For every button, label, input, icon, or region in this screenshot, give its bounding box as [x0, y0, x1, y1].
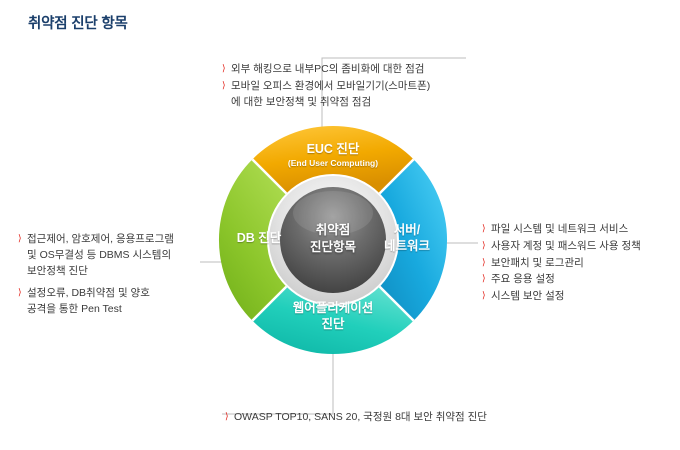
callout-text: 사용자 계정 및 패스워드 사용 정책: [491, 239, 672, 255]
callout-item: ⟩ 설정오류, DB취약점 및 양호 공격을 통한 Pen Test: [18, 286, 196, 318]
callout-item: ⟩ 주요 응용 설정: [482, 272, 672, 288]
donut-label-web-line2: 진단: [266, 317, 400, 333]
page-title: 취약점 진단 항목: [28, 12, 128, 33]
bullet-icon: ⟩: [482, 272, 486, 286]
callout-text: 설정오류, DB취약점 및 양호: [27, 286, 196, 302]
bullet-icon: ⟩: [18, 232, 22, 246]
callout-item: ⟩ 시스템 보안 설정: [482, 289, 672, 305]
donut-label-euc-sub: (End User Computing): [273, 158, 393, 169]
callout-item: ⟩ 모바일 오피스 환경에서 모바일기기(스마트폰) 에 대한 보안정책 및 취…: [222, 79, 472, 111]
donut-label-web-line1: 웹어플리케이션: [266, 301, 400, 317]
bullet-icon: ⟩: [222, 79, 226, 93]
callout-server-network: ⟩ 파일 시스템 및 네트워크 서비스 ⟩ 사용자 계정 및 패스워드 사용 정…: [482, 222, 672, 306]
callout-text: 보안정책 진단: [27, 264, 196, 280]
callout-item: ⟩ 외부 해킹으로 내부PC의 좀비화에 대한 점검: [222, 62, 472, 78]
callout-text: 외부 해킹으로 내부PC의 좀비화에 대한 점검: [231, 62, 472, 78]
callout-text: 모바일 오피스 환경에서 모바일기기(스마트폰): [231, 79, 472, 95]
callout-item: ⟩ 사용자 계정 및 패스워드 사용 정책: [482, 239, 672, 255]
donut-label-euc-main: EUC 진단: [273, 142, 393, 158]
bullet-icon: ⟩: [225, 410, 229, 424]
bullet-icon: ⟩: [482, 289, 486, 303]
donut-center-line2: 진단항목: [280, 239, 386, 256]
bullet-icon: ⟩: [482, 256, 486, 270]
vulnerability-donut-diagram: EUC 진단 (End User Computing) 서버/ 네트워크 웹어플…: [218, 125, 448, 355]
callout-text: 접근제어, 암호제어, 응용프로그램: [27, 232, 196, 248]
callout-db: ⟩ 접근제어, 암호제어, 응용프로그램 및 OS무결성 등 DBMS 시스템의…: [18, 232, 196, 319]
callout-text: 보안패치 및 로그관리: [491, 256, 672, 272]
callout-text: 파일 시스템 및 네트워크 서비스: [491, 222, 672, 238]
callout-item: ⟩ 파일 시스템 및 네트워크 서비스: [482, 222, 672, 238]
callout-text: 시스템 보안 설정: [491, 289, 672, 305]
callout-text: OWASP TOP10, SANS 20, 국정원 8대 보안 취약점 진단: [234, 410, 555, 426]
callout-euc: ⟩ 외부 해킹으로 내부PC의 좀비화에 대한 점검 ⟩ 모바일 오피스 환경에…: [222, 62, 472, 111]
donut-center-line1: 취약점: [280, 222, 386, 239]
callout-item: ⟩ OWASP TOP10, SANS 20, 국정원 8대 보안 취약점 진단: [225, 410, 555, 426]
bullet-icon: ⟩: [482, 239, 486, 253]
donut-center-label: 취약점 진단항목: [280, 222, 386, 256]
callout-item: ⟩ 접근제어, 암호제어, 응용프로그램 및 OS무결성 등 DBMS 시스템의…: [18, 232, 196, 279]
callout-text: 및 OS무결성 등 DBMS 시스템의: [27, 248, 196, 264]
donut-label-euc: EUC 진단 (End User Computing): [273, 142, 393, 168]
callout-item: ⟩ 보안패치 및 로그관리: [482, 256, 672, 272]
bullet-icon: ⟩: [222, 62, 226, 76]
donut-label-web-application: 웹어플리케이션 진단: [266, 301, 400, 332]
callout-text: 에 대한 보안정책 및 취약점 점검: [231, 95, 472, 111]
callout-text: 주요 응용 설정: [491, 272, 672, 288]
bullet-icon: ⟩: [482, 222, 486, 236]
leader-line-web: [222, 352, 333, 414]
bullet-icon: ⟩: [18, 286, 22, 300]
callout-text: 공격을 통한 Pen Test: [27, 302, 196, 318]
callout-web-application: ⟩ OWASP TOP10, SANS 20, 국정원 8대 보안 취약점 진단: [225, 410, 555, 427]
